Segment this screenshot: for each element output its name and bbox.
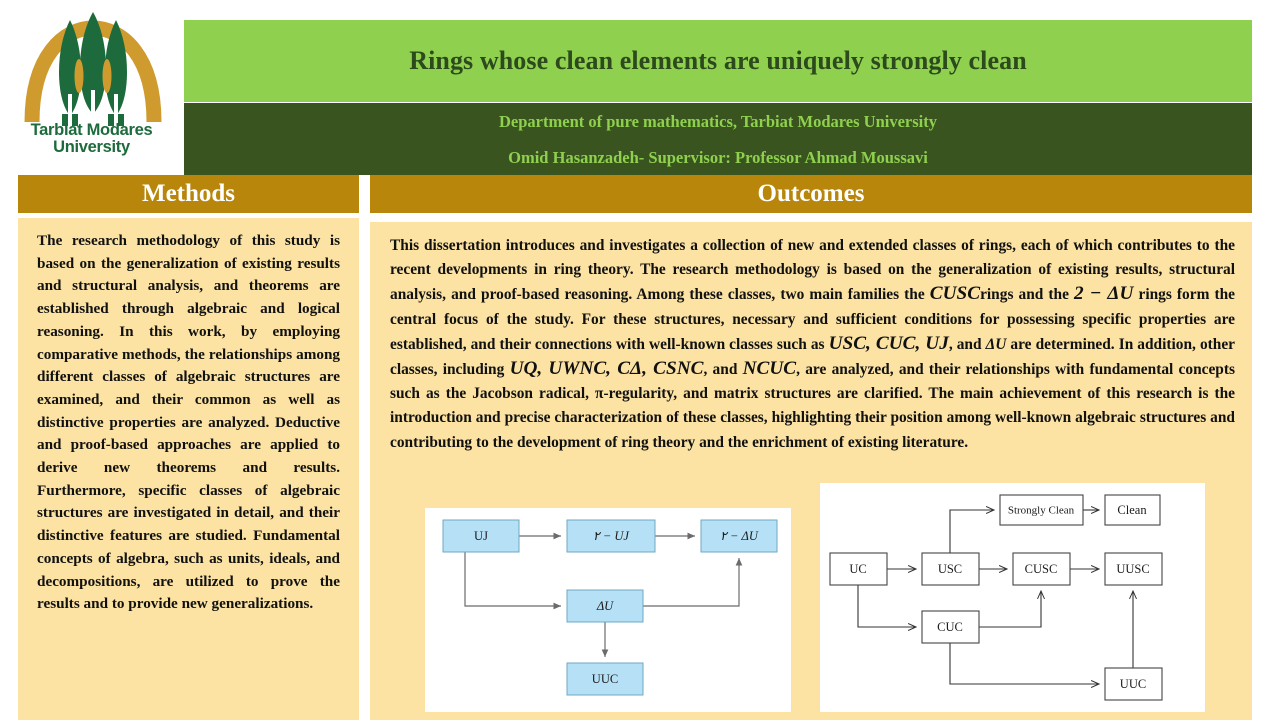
math-two-minus-delta-u: 2 − ΔU [1074, 283, 1133, 304]
edge-du-to-2du [643, 558, 739, 606]
node-clean-label: Clean [1117, 503, 1147, 517]
node-du-label: ΔU [596, 599, 614, 613]
outcomes-text-seg-6: , and [703, 361, 742, 378]
poster-subtitle-bar: Department of pure mathematics, Tarbiat … [184, 103, 1252, 175]
node-2uj-label: ۲ − UJ [593, 529, 630, 543]
poster-root: Tarbiat Modares University Rings whose c… [0, 0, 1280, 720]
node-uj: UJ [443, 520, 519, 552]
nodes-group: Strongly Clean Clean UC USC CUSC [830, 495, 1162, 700]
outcomes-text-seg-4: , and [949, 336, 986, 353]
node-strongly-clean: Strongly Clean [1000, 495, 1083, 525]
node-uuc-left-label: UUC [592, 672, 618, 686]
node-uuc-right-label: UUC [1120, 677, 1146, 691]
uj-delta-u-diagram-svg: UJ ۲ − UJ ۲ − ΔU ΔU UUC [425, 508, 791, 712]
outcomes-heading: Outcomes [758, 180, 865, 208]
node-cuc: CUC [922, 611, 979, 643]
math-delta-u: ΔU [986, 336, 1007, 353]
affiliation-line: Department of pure mathematics, Tarbiat … [499, 113, 937, 130]
poster-title-bar: Rings whose clean elements are uniquely … [184, 20, 1252, 102]
university-logo: Tarbiat Modares University [0, 0, 183, 175]
methods-panel: The research methodology of this study i… [18, 218, 359, 720]
node-2du-label: ۲ − ΔU [720, 529, 759, 543]
node-cusc: CUSC [1013, 553, 1070, 585]
node-strongly-clean-label: Strongly Clean [1008, 505, 1075, 517]
outcomes-body-text: This dissertation introduces and investi… [390, 234, 1235, 455]
math-usc-cuc-uj: USC, CUC, UJ [829, 333, 949, 354]
edge-usc-to-strongly-clean [950, 510, 994, 553]
authors-line: Omid Hasanzadeh- Supervisor: Professor A… [508, 149, 928, 166]
math-cusc: CUSC [930, 283, 980, 304]
node-uuc-right: UUC [1105, 668, 1162, 700]
clean-classes-diagram: Strongly Clean Clean UC USC CUSC [820, 483, 1205, 712]
methods-body-text: The research methodology of this study i… [37, 230, 340, 616]
methods-section-header: Methods [18, 175, 359, 213]
node-cusc-label: CUSC [1025, 562, 1058, 576]
edge-uj-to-du [465, 552, 561, 606]
node-2uj: ۲ − UJ [567, 520, 655, 552]
node-usc-label: USC [938, 562, 962, 576]
methods-heading: Methods [142, 180, 235, 208]
node-uuc-left: UUC [567, 663, 643, 695]
math-ncuc: NCUC [743, 358, 796, 379]
node-usc: USC [922, 553, 979, 585]
nodes-group: UJ ۲ − UJ ۲ − ΔU ΔU UUC [443, 520, 777, 695]
node-uc-label: UC [849, 562, 866, 576]
outcomes-section-header: Outcomes [370, 175, 1252, 213]
poster-title: Rings whose clean elements are uniquely … [409, 46, 1027, 76]
edge-uc-to-cuc [858, 585, 916, 627]
clean-classes-diagram-svg: Strongly Clean Clean UC USC CUSC [820, 483, 1205, 712]
uj-delta-u-diagram: UJ ۲ − UJ ۲ − ΔU ΔU UUC [425, 508, 791, 712]
node-uusc-label: UUSC [1116, 562, 1149, 576]
node-cuc-label: CUC [937, 620, 963, 634]
logo-wordmark: Tarbiat Modares University [0, 122, 183, 156]
node-du: ΔU [567, 590, 643, 622]
node-uj-label: UJ [474, 529, 488, 543]
node-uc: UC [830, 553, 887, 585]
outcomes-text-seg-2: rings and the [980, 286, 1074, 303]
node-clean: Clean [1105, 495, 1160, 525]
logo-emblem-icon [18, 10, 168, 130]
edge-cuc-to-uuc [950, 643, 1099, 684]
logo-line-1: Tarbiat Modares [31, 121, 153, 139]
edges-group [858, 510, 1133, 684]
node-2du: ۲ − ΔU [701, 520, 777, 552]
edge-cuc-to-cusc [979, 591, 1041, 627]
math-uq-uwnc-cd-csnc: UQ, UWNC, CΔ, CSNC [510, 358, 704, 379]
logo-line-2: University [0, 139, 183, 156]
node-uusc: UUSC [1105, 553, 1162, 585]
